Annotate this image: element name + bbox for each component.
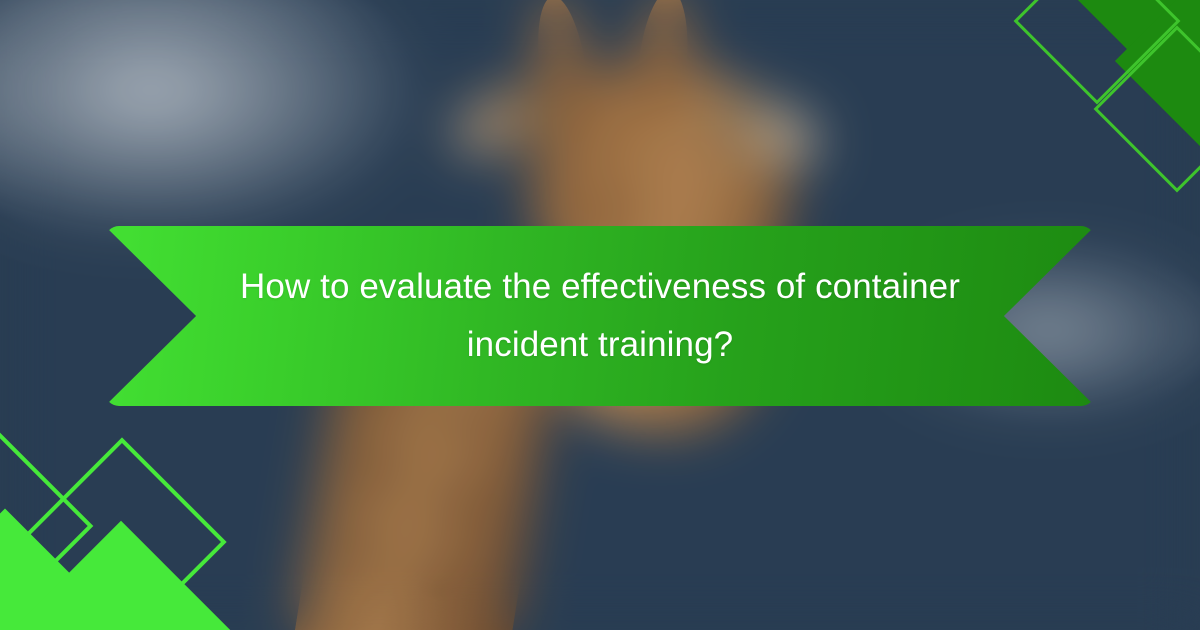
- headline-line-2: incident training?: [467, 325, 733, 364]
- question-banner-card: How to evaluate the effectiveness of con…: [0, 0, 1200, 630]
- headline-text: How to evaluate the effectiveness of con…: [200, 258, 1000, 374]
- headline-line-1: How to evaluate the effectiveness of con…: [240, 267, 960, 306]
- headline-ribbon: How to evaluate the effectiveness of con…: [105, 226, 1095, 406]
